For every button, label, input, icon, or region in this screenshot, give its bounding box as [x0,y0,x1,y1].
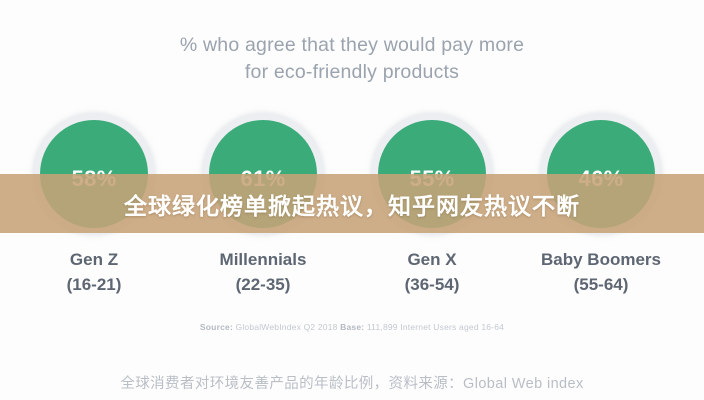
chart-title: % who agree that they would pay more for… [0,32,704,86]
overlay-headline-text: 全球绿化榜单掀起热议，知乎网友热议不断 [124,187,580,221]
base-value: 111,899 Internet Users aged 16-64 [367,322,504,332]
infographic-root: % who agree that they would pay more for… [0,0,704,400]
source-value: GlobalWebIndex Q2 2018 [236,322,338,332]
generation-label-baby-boomers: Baby Boomers (55-64) [501,247,701,297]
source-label: Source: [200,322,233,332]
base-label: Base: [340,322,364,332]
generation-name-baby-boomers: Baby Boomers [501,247,701,272]
generation-range-baby-boomers: (55-64) [501,272,701,297]
chinese-caption: 全球消费者对环境友善产品的年龄比例，资料来源：Global Web index [0,372,704,393]
source-line: Source: GlobalWebIndex Q2 2018 Base: 111… [0,322,704,332]
overlay-headline-banner: 全球绿化榜单掀起热议，知乎网友热议不断 [0,174,704,233]
generation-labels-row: Gen Z (16-21) Millennials (22-35) Gen X … [0,247,704,303]
